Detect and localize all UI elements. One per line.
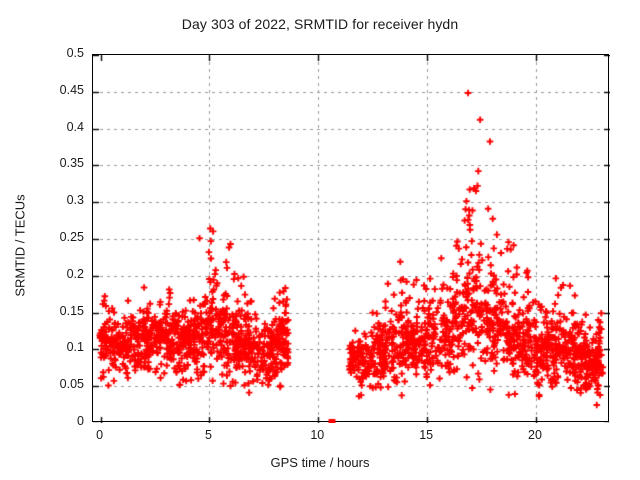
chart-page: Day 303 of 2022, SRMTID for receiver hyd… bbox=[0, 0, 640, 480]
y-tick-label: 0.2 bbox=[28, 267, 84, 281]
y-tick-label: 0.1 bbox=[28, 340, 84, 354]
x-tick-label: 20 bbox=[515, 428, 555, 442]
x-axis-label: GPS time / hours bbox=[0, 455, 640, 470]
y-tick-label: 0.35 bbox=[28, 156, 84, 170]
y-tick-label: 0 bbox=[28, 414, 84, 428]
y-tick-label: 0.4 bbox=[28, 120, 84, 134]
y-tick-label: 0.25 bbox=[28, 230, 84, 244]
x-tick-label: 5 bbox=[188, 428, 228, 442]
y-axis-label: SRMTID / TECUs bbox=[13, 146, 28, 346]
y-tick-label: 0.5 bbox=[28, 46, 84, 60]
y-tick-label: 0.45 bbox=[28, 83, 84, 97]
y-tick-label: 0.05 bbox=[28, 377, 84, 391]
x-tick-label: 0 bbox=[80, 428, 120, 442]
x-tick-label: 10 bbox=[297, 428, 337, 442]
x-tick-label: 15 bbox=[406, 428, 446, 442]
y-tick-label: 0.15 bbox=[28, 304, 84, 318]
y-tick-label: 0.3 bbox=[28, 193, 84, 207]
y-tick-labels: 00.050.10.150.20.250.30.350.40.450.5 bbox=[0, 0, 640, 480]
